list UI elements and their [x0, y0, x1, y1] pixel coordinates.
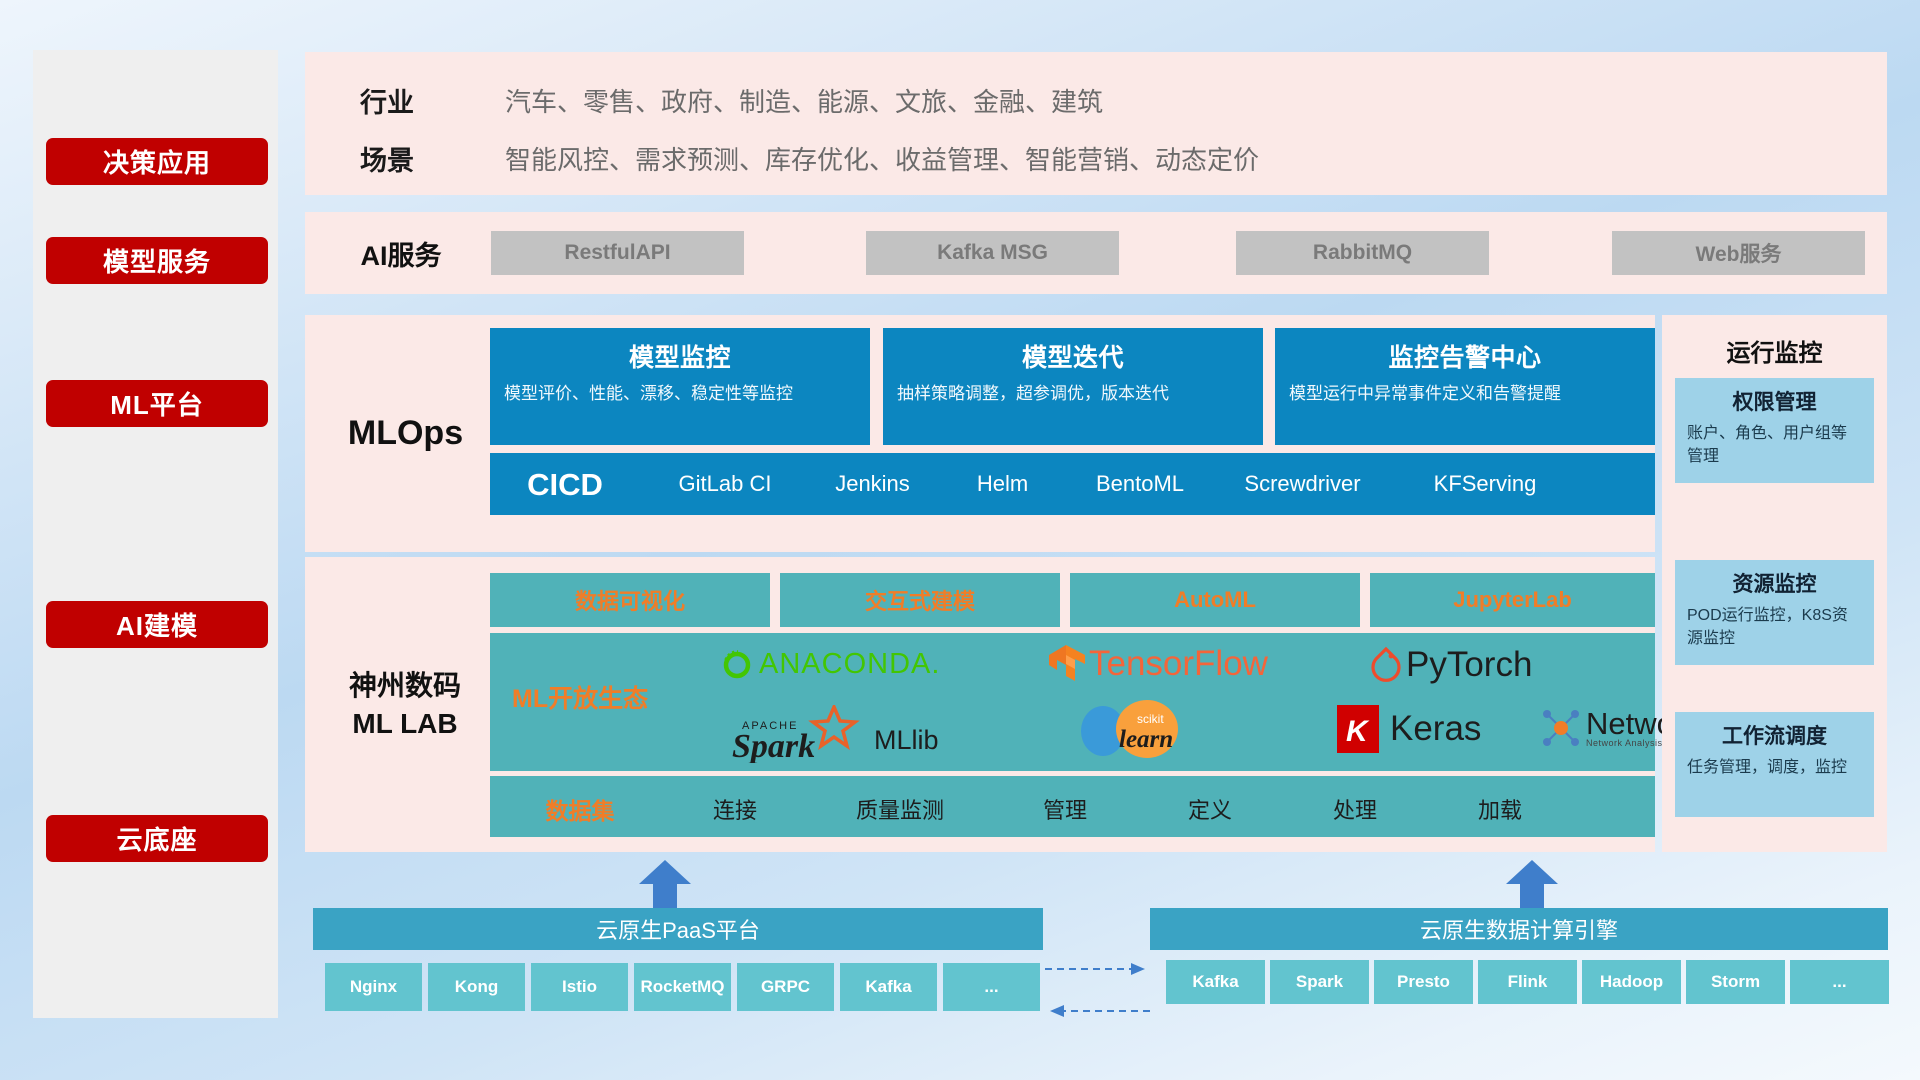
tool-automl[interactable]: AutoML — [1070, 573, 1360, 627]
rail-item-model-service[interactable]: 模型服务 — [46, 237, 268, 284]
tool-data-visualization[interactable]: 数据可视化 — [490, 573, 770, 627]
ai-service-chip-rabbitmq[interactable]: RabbitMQ — [1236, 231, 1489, 275]
dataset-item-quality[interactable]: 质量监测 — [810, 793, 990, 825]
cloud-chip-rocketmq[interactable]: RocketMQ — [634, 963, 731, 1011]
cicd-bar: CICD GitLab CI Jenkins Helm BentoML Scre… — [490, 453, 1655, 515]
chip-label: Nginx — [350, 978, 397, 997]
cicd-item-bentoml[interactable]: BentoML — [1070, 453, 1210, 496]
ai-service-chip-web-service[interactable]: Web服务 — [1612, 231, 1865, 275]
card-head: 资源监控 — [1687, 568, 1862, 598]
rail-label: 模型服务 — [103, 242, 211, 279]
chip-label: GRPC — [761, 978, 810, 997]
cicd-title: CICD — [490, 453, 640, 503]
tool-jupyterlab[interactable]: JupyterLab — [1370, 573, 1655, 627]
mlops-panel: MLOps 模型监控 模型评价、性能、漂移、稳定性等监控 模型迭代 抽样策略调整… — [305, 315, 1655, 552]
chip-label: RabbitMQ — [1313, 241, 1412, 265]
scenario-key: 场景 — [360, 139, 414, 178]
cloud-compute-label: 云原生数据计算引擎 — [1420, 913, 1618, 945]
compute-chip-spark[interactable]: Spark — [1270, 960, 1369, 1004]
chip-label: Kafka MSG — [937, 241, 1048, 265]
cloud-paas-label: 云原生PaaS平台 — [596, 913, 760, 945]
compute-chip-hadoop[interactable]: Hadoop — [1582, 960, 1681, 1004]
industry-scenario-panel: 行业 汽车、零售、政府、制造、能源、文旅、金融、建筑 场景 智能风控、需求预测、… — [305, 52, 1887, 195]
cloud-paas-bar[interactable]: 云原生PaaS平台 — [313, 908, 1043, 950]
mlops-card-model-monitoring[interactable]: 模型监控 模型评价、性能、漂移、稳定性等监控 — [490, 328, 870, 445]
industry-value: 汽车、零售、政府、制造、能源、文旅、金融、建筑 — [505, 82, 1103, 119]
rail-item-cloud-base[interactable]: 云底座 — [46, 815, 268, 862]
svg-text:Spark: Spark — [732, 728, 815, 763]
mllib-label: MLlib — [874, 725, 939, 756]
rail-item-ai-modeling[interactable]: AI建模 — [46, 601, 268, 648]
architecture-diagram: 决策应用 模型服务 ML平台 AI建模 云底座 行业 汽车、零售、政府、制造、能… — [0, 0, 1920, 1080]
scikit-learn-logo: scikit learn — [1075, 699, 1210, 761]
mlops-label: MLOps — [323, 315, 488, 552]
tool-label: JupyterLab — [1453, 587, 1572, 613]
chip-label: Istio — [562, 978, 597, 997]
chip-label: Spark — [1296, 973, 1343, 992]
ai-service-label: AI服务 — [331, 212, 471, 294]
ai-service-chip-kafka-msg[interactable]: Kafka MSG — [866, 231, 1119, 275]
dataset-item-connect[interactable]: 连接 — [665, 793, 805, 825]
compute-chip-flink[interactable]: Flink — [1478, 960, 1577, 1004]
ai-service-chip-restfulapi[interactable]: RestfulAPI — [491, 231, 744, 275]
ml-ecosystem-label: ML开放生态 — [512, 679, 648, 715]
dataset-item-load[interactable]: 加载 — [1430, 793, 1570, 825]
chip-label: ... — [1832, 973, 1846, 992]
left-rail: 决策应用 模型服务 ML平台 AI建模 云底座 — [33, 50, 278, 1018]
chip-label: Kafka — [1192, 973, 1238, 992]
card-desc: 模型运行中异常事件定义和告警提醒 — [1289, 382, 1641, 407]
chip-label: Hadoop — [1600, 973, 1663, 992]
card-desc: 账户、角色、用户组等管理 — [1687, 422, 1862, 468]
tensorflow-label: TensorFlow — [1089, 644, 1268, 684]
scenario-value: 智能风控、需求预测、库存优化、收益管理、智能营销、动态定价 — [505, 140, 1259, 177]
chip-label: Kafka — [865, 978, 911, 997]
svg-text:learn: learn — [1119, 726, 1173, 753]
tool-interactive-modeling[interactable]: 交互式建模 — [780, 573, 1060, 627]
industry-key: 行业 — [360, 81, 414, 120]
cloud-chip-kafka[interactable]: Kafka — [840, 963, 937, 1011]
dataset-item-process[interactable]: 处理 — [1285, 793, 1425, 825]
monitoring-card-workflow[interactable]: 工作流调度 任务管理，调度，监控 — [1675, 712, 1874, 817]
ml-ecosystem-strip: ML开放生态 ANACONDA . TensorFlow — [490, 633, 1655, 771]
rail-item-ml-platform[interactable]: ML平台 — [46, 380, 268, 427]
tool-label: AutoML — [1174, 587, 1256, 613]
rail-label: 云底座 — [116, 820, 197, 857]
svg-text:scikit: scikit — [1137, 712, 1164, 726]
cloud-chip-kong[interactable]: Kong — [428, 963, 525, 1011]
dataset-item-manage[interactable]: 管理 — [995, 793, 1135, 825]
rail-item-decision-app[interactable]: 决策应用 — [46, 138, 268, 185]
mlops-card-alert-center[interactable]: 监控告警中心 模型运行中异常事件定义和告警提醒 — [1275, 328, 1655, 445]
cloud-compute-bar[interactable]: 云原生数据计算引擎 — [1150, 908, 1888, 950]
keras-logo: K Keras — [1335, 703, 1481, 755]
card-desc: 模型评价、性能、漂移、稳定性等监控 — [504, 382, 856, 407]
cicd-item-screwdriver[interactable]: Screwdriver — [1210, 453, 1395, 496]
monitoring-panel: 运行监控 权限管理 账户、角色、用户组等管理 资源监控 POD运行监控，K8S资… — [1662, 315, 1887, 852]
chip-label: Web服务 — [1696, 238, 1782, 268]
compute-chip-kafka[interactable]: Kafka — [1166, 960, 1265, 1004]
card-desc: 任务管理，调度，监控 — [1687, 756, 1862, 779]
compute-chip-more-right[interactable]: ... — [1790, 960, 1889, 1004]
chip-label: Kong — [455, 978, 498, 997]
chip-label: RocketMQ — [640, 978, 724, 997]
card-title: 模型迭代 — [897, 338, 1249, 374]
ml-lab-label: 神州数码 ML LAB — [315, 557, 495, 852]
anaconda-label: ANACONDA — [759, 648, 931, 681]
monitoring-title: 运行监控 — [1662, 333, 1887, 368]
compute-chip-presto[interactable]: Presto — [1374, 960, 1473, 1004]
cicd-item-jenkins[interactable]: Jenkins — [810, 453, 935, 496]
compute-chip-storm[interactable]: Storm — [1686, 960, 1785, 1004]
rail-label: ML平台 — [110, 385, 204, 422]
chip-label: Presto — [1397, 973, 1450, 992]
tool-label: 交互式建模 — [865, 584, 975, 616]
spark-mllib-logo: APACHE Spark MLlib — [730, 705, 939, 763]
ai-service-panel: AI服务 RestfulAPI Kafka MSG RabbitMQ Web服务 — [305, 212, 1887, 294]
arrow-up-compute — [1502, 860, 1562, 908]
chip-label: Storm — [1711, 973, 1760, 992]
ml-lab-label-line2: ML LAB — [352, 705, 457, 743]
pytorch-logo: PyTorch — [1370, 645, 1532, 685]
tool-label: 数据可视化 — [575, 584, 685, 616]
card-title: 监控告警中心 — [1289, 338, 1641, 374]
bidirectional-connector — [1045, 955, 1150, 1025]
chip-label: Flink — [1508, 973, 1548, 992]
ml-lab-panel: 神州数码 ML LAB 数据可视化 交互式建模 AutoML JupyterLa… — [305, 557, 1655, 852]
cloud-chip-more-left[interactable]: ... — [943, 963, 1040, 1011]
rail-label: 决策应用 — [103, 143, 211, 180]
pytorch-label: PyTorch — [1406, 645, 1532, 685]
keras-label: Keras — [1390, 709, 1481, 749]
card-desc: POD运行监控，K8S资源监控 — [1687, 604, 1862, 650]
cicd-item-helm[interactable]: Helm — [935, 453, 1070, 496]
dataset-head: 数据集 — [500, 792, 660, 826]
ml-lab-label-line1: 神州数码 — [349, 667, 461, 705]
cicd-item-kfserving[interactable]: KFServing — [1395, 453, 1575, 496]
card-desc: 抽样策略调整，超参调优，版本迭代 — [897, 382, 1249, 407]
arrow-up-paas — [635, 860, 695, 908]
cloud-chip-istio[interactable]: Istio — [531, 963, 628, 1011]
anaconda-logo: ANACONDA . — [720, 647, 939, 681]
card-title: 模型监控 — [504, 338, 856, 374]
mlops-card-model-iteration[interactable]: 模型迭代 抽样策略调整，超参调优，版本迭代 — [883, 328, 1263, 445]
monitoring-card-resources[interactable]: 资源监控 POD运行监控，K8S资源监控 — [1675, 560, 1874, 665]
cicd-item-gitlab-ci[interactable]: GitLab CI — [640, 453, 810, 496]
cloud-chip-grpc[interactable]: GRPC — [737, 963, 834, 1011]
card-head: 权限管理 — [1687, 386, 1862, 416]
chip-label: ... — [984, 978, 998, 997]
chip-label: RestfulAPI — [564, 241, 670, 265]
dataset-strip: 数据集 连接 质量监测 管理 定义 处理 加载 — [490, 776, 1655, 837]
card-head: 工作流调度 — [1687, 720, 1862, 750]
rail-label: AI建模 — [116, 606, 198, 643]
cloud-chip-nginx[interactable]: Nginx — [325, 963, 422, 1011]
dataset-item-define[interactable]: 定义 — [1140, 793, 1280, 825]
svg-text:K: K — [1346, 715, 1370, 748]
monitoring-card-permissions[interactable]: 权限管理 账户、角色、用户组等管理 — [1675, 378, 1874, 483]
tensorflow-logo: TensorFlow — [1047, 643, 1268, 685]
